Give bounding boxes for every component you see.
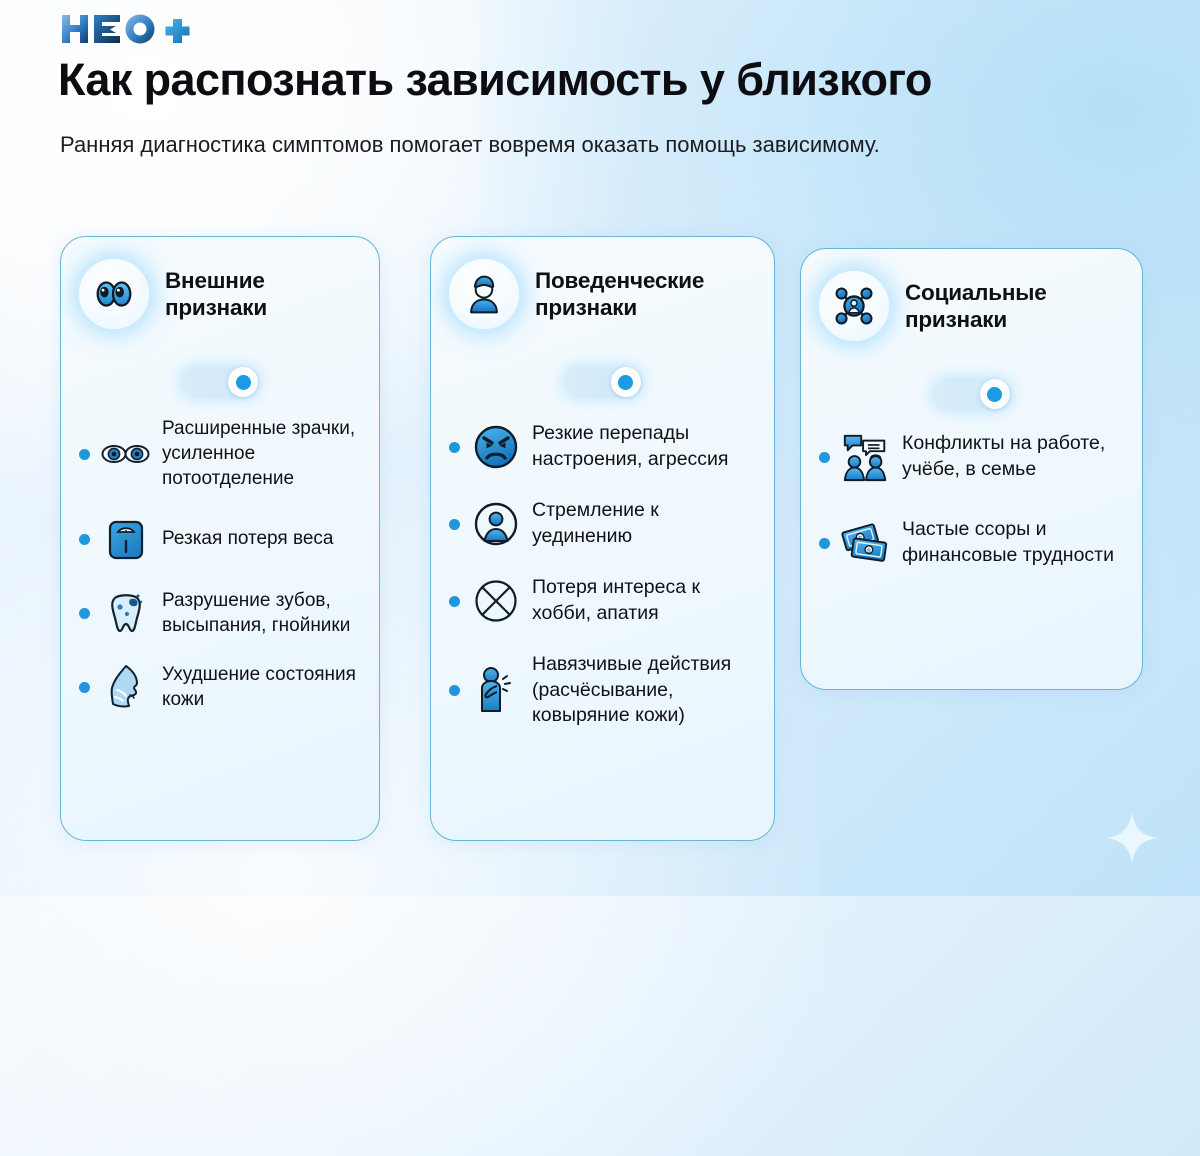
banknotes-icon: S S xyxy=(840,517,892,569)
bullet-dot xyxy=(819,538,830,549)
list-item: Резкая потеря веса xyxy=(79,514,361,566)
list-item: Конфликты на работе, учёбе, в семье xyxy=(819,431,1124,483)
list-item: Стремление к уединению xyxy=(449,498,756,550)
card-title: Социальные признаки xyxy=(905,279,1124,334)
weight-scale-icon xyxy=(100,514,152,566)
card-badge xyxy=(79,259,149,329)
neo-plus-logo-icon xyxy=(60,12,200,46)
bullet-dot xyxy=(449,685,460,696)
card-social-signs[interactable]: Социальные признаки xyxy=(800,248,1143,690)
bullet-dot xyxy=(79,534,90,545)
tooth-decay-icon xyxy=(100,588,152,640)
list-item-text: Ухудшение состояния кожи xyxy=(162,663,361,713)
crossed-circle-icon xyxy=(470,575,522,627)
list-item-text: Резкая потеря веса xyxy=(162,527,334,552)
list-item-text: Навязчивые действия (расчёсывание, ковыр… xyxy=(532,652,756,729)
face-skin-icon xyxy=(100,662,152,714)
person-circle-icon xyxy=(470,498,522,550)
list-item: Резкие перепады настроения, агрессия xyxy=(449,421,756,473)
signs-list: Резкие перепады настроения, агрессия Стр… xyxy=(431,397,774,729)
card-header: Внешние признаки xyxy=(61,237,379,329)
signs-list: Расширенные зрачки, усиленное потоотделе… xyxy=(61,397,379,714)
toggle-knob xyxy=(228,367,258,397)
list-item: Потеря интереса к хобби, апатия xyxy=(449,575,756,627)
toggle-switch-behavioural[interactable] xyxy=(564,367,642,397)
toggle-knob xyxy=(611,367,641,397)
list-item-text: Частые ссоры и финансовые трудности xyxy=(902,517,1124,568)
card-badge xyxy=(819,271,889,341)
card-behavioural-signs[interactable]: Поведенческие признаки xyxy=(430,236,775,841)
toggle-row xyxy=(431,367,774,397)
card-title: Поведенческие признаки xyxy=(535,267,756,322)
toggle-row xyxy=(61,367,379,397)
eyes-icon xyxy=(91,271,137,317)
list-item-text: Потеря интереса к хобби, апатия xyxy=(532,575,756,626)
list-item-text: Конфликты на работе, учёбе, в семье xyxy=(902,431,1124,482)
sparkle-star-icon xyxy=(1104,810,1160,866)
scratching-person-icon xyxy=(470,664,522,716)
list-item: Ухудшение состояния кожи xyxy=(79,662,361,714)
bullet-dot xyxy=(449,519,460,530)
signs-list: Конфликты на работе, учёбе, в семье S xyxy=(801,409,1142,569)
bullet-dot xyxy=(79,449,90,460)
card-badge xyxy=(449,259,519,329)
card-external-signs[interactable]: Внешние признаки xyxy=(60,236,380,841)
bullet-dot xyxy=(449,442,460,453)
brand-logo xyxy=(60,12,200,46)
card-title: Внешние признаки xyxy=(165,267,361,322)
page-subtitle: Ранняя диагностика симптомов помогает во… xyxy=(60,128,960,161)
toggle-switch-social[interactable] xyxy=(933,379,1011,409)
person-bust-icon xyxy=(462,272,506,316)
bullet-dot xyxy=(79,608,90,619)
list-item: Навязчивые действия (расчёсывание, ковыр… xyxy=(449,652,756,729)
list-item: S S Частые ссоры и финансовые трудности xyxy=(819,517,1124,569)
page-title: Как распознать зависимость у близкого xyxy=(58,56,1158,105)
toggle-knob xyxy=(980,379,1010,409)
bullet-dot xyxy=(79,682,90,693)
toggle-switch-external[interactable] xyxy=(181,367,259,397)
list-item: Расширенные зрачки, усиленное потоотделе… xyxy=(79,417,361,492)
bullet-dot xyxy=(819,452,830,463)
conflict-people-icon xyxy=(840,431,892,483)
angry-face-icon xyxy=(470,421,522,473)
card-header: Поведенческие признаки xyxy=(431,237,774,329)
list-item: Разрушение зубов, высыпания, гнойники xyxy=(79,588,361,640)
toggle-row xyxy=(801,379,1142,409)
list-item-text: Стремление к уединению xyxy=(532,498,756,549)
network-person-icon xyxy=(831,283,877,329)
eyes-pupils-icon xyxy=(100,428,152,480)
list-item-text: Резкие перепады настроения, агрессия xyxy=(532,421,756,472)
bullet-dot xyxy=(449,596,460,607)
card-header: Социальные признаки xyxy=(801,249,1142,341)
list-item-text: Разрушение зубов, высыпания, гнойники xyxy=(162,589,361,639)
list-item-text: Расширенные зрачки, усиленное потоотделе… xyxy=(162,417,361,492)
